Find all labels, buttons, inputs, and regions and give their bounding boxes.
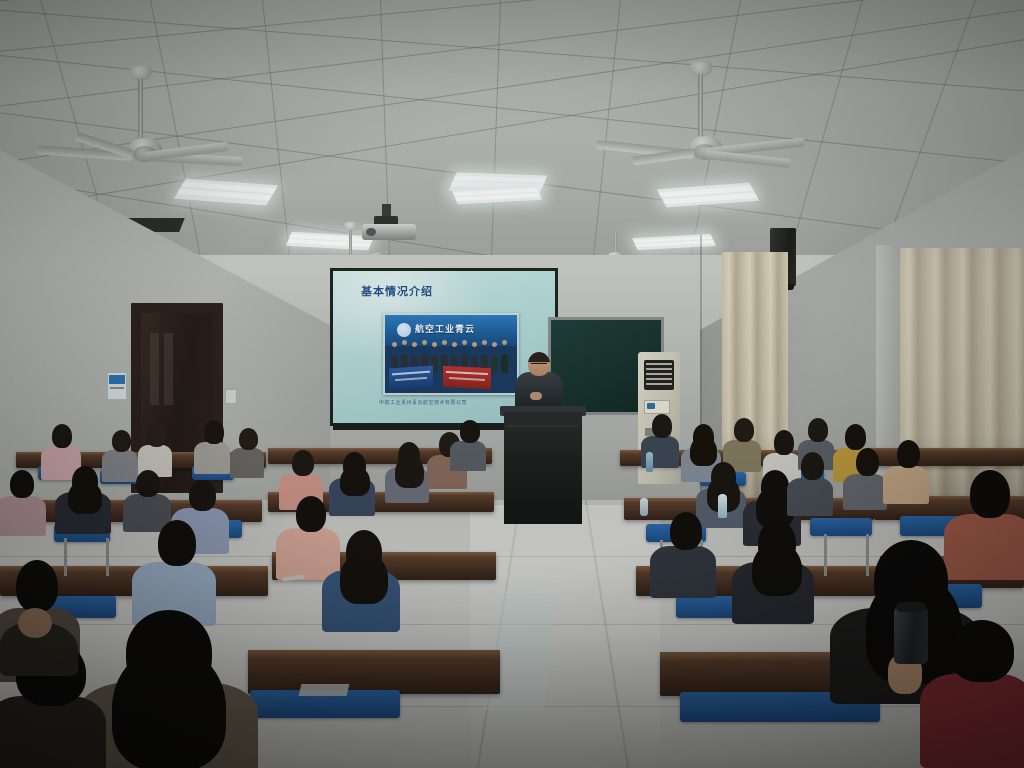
thermos-lid [896,602,926,612]
fluorescent-light-panel [286,232,374,250]
ac-grille [644,360,674,390]
chair[interactable] [810,518,872,536]
lectern-edge [508,425,578,427]
ac-brand-logo [647,403,655,409]
fluorescent-light-panel [632,234,716,250]
slide-caption: 中航工业贵州青云航空技术有限公司 [379,399,467,406]
door-glass-pane [150,333,159,405]
company-name: 航空工业青云 [415,322,475,335]
projector-lens [366,228,376,236]
paper-sheet[interactable] [299,684,350,696]
company-logo-icon [397,323,411,337]
desk-row [248,650,500,694]
slide-title: 基本情况介绍 [361,283,433,299]
classroom-photo: 基本情况介绍 航空工业青云 [0,0,1024,768]
fluorescent-light-panel [452,186,542,204]
slide-photo: 航空工业青云 [383,313,519,395]
presenter-hand [530,392,542,400]
door-glass-pane [164,333,173,405]
thermos-bottle[interactable] [894,606,928,664]
lectern [504,412,582,524]
fluorescent-light-panel [657,183,760,208]
red-banner [443,366,491,390]
glasses-icon [531,363,547,368]
wall-notice-sign [107,372,127,400]
water-bottle[interactable] [646,452,653,472]
blue-banner [389,365,433,389]
light-switch[interactable] [225,389,237,404]
water-bottle[interactable] [718,494,727,518]
desk-row [866,448,1024,466]
water-bottle[interactable] [640,498,648,516]
fan-blade [705,150,791,168]
